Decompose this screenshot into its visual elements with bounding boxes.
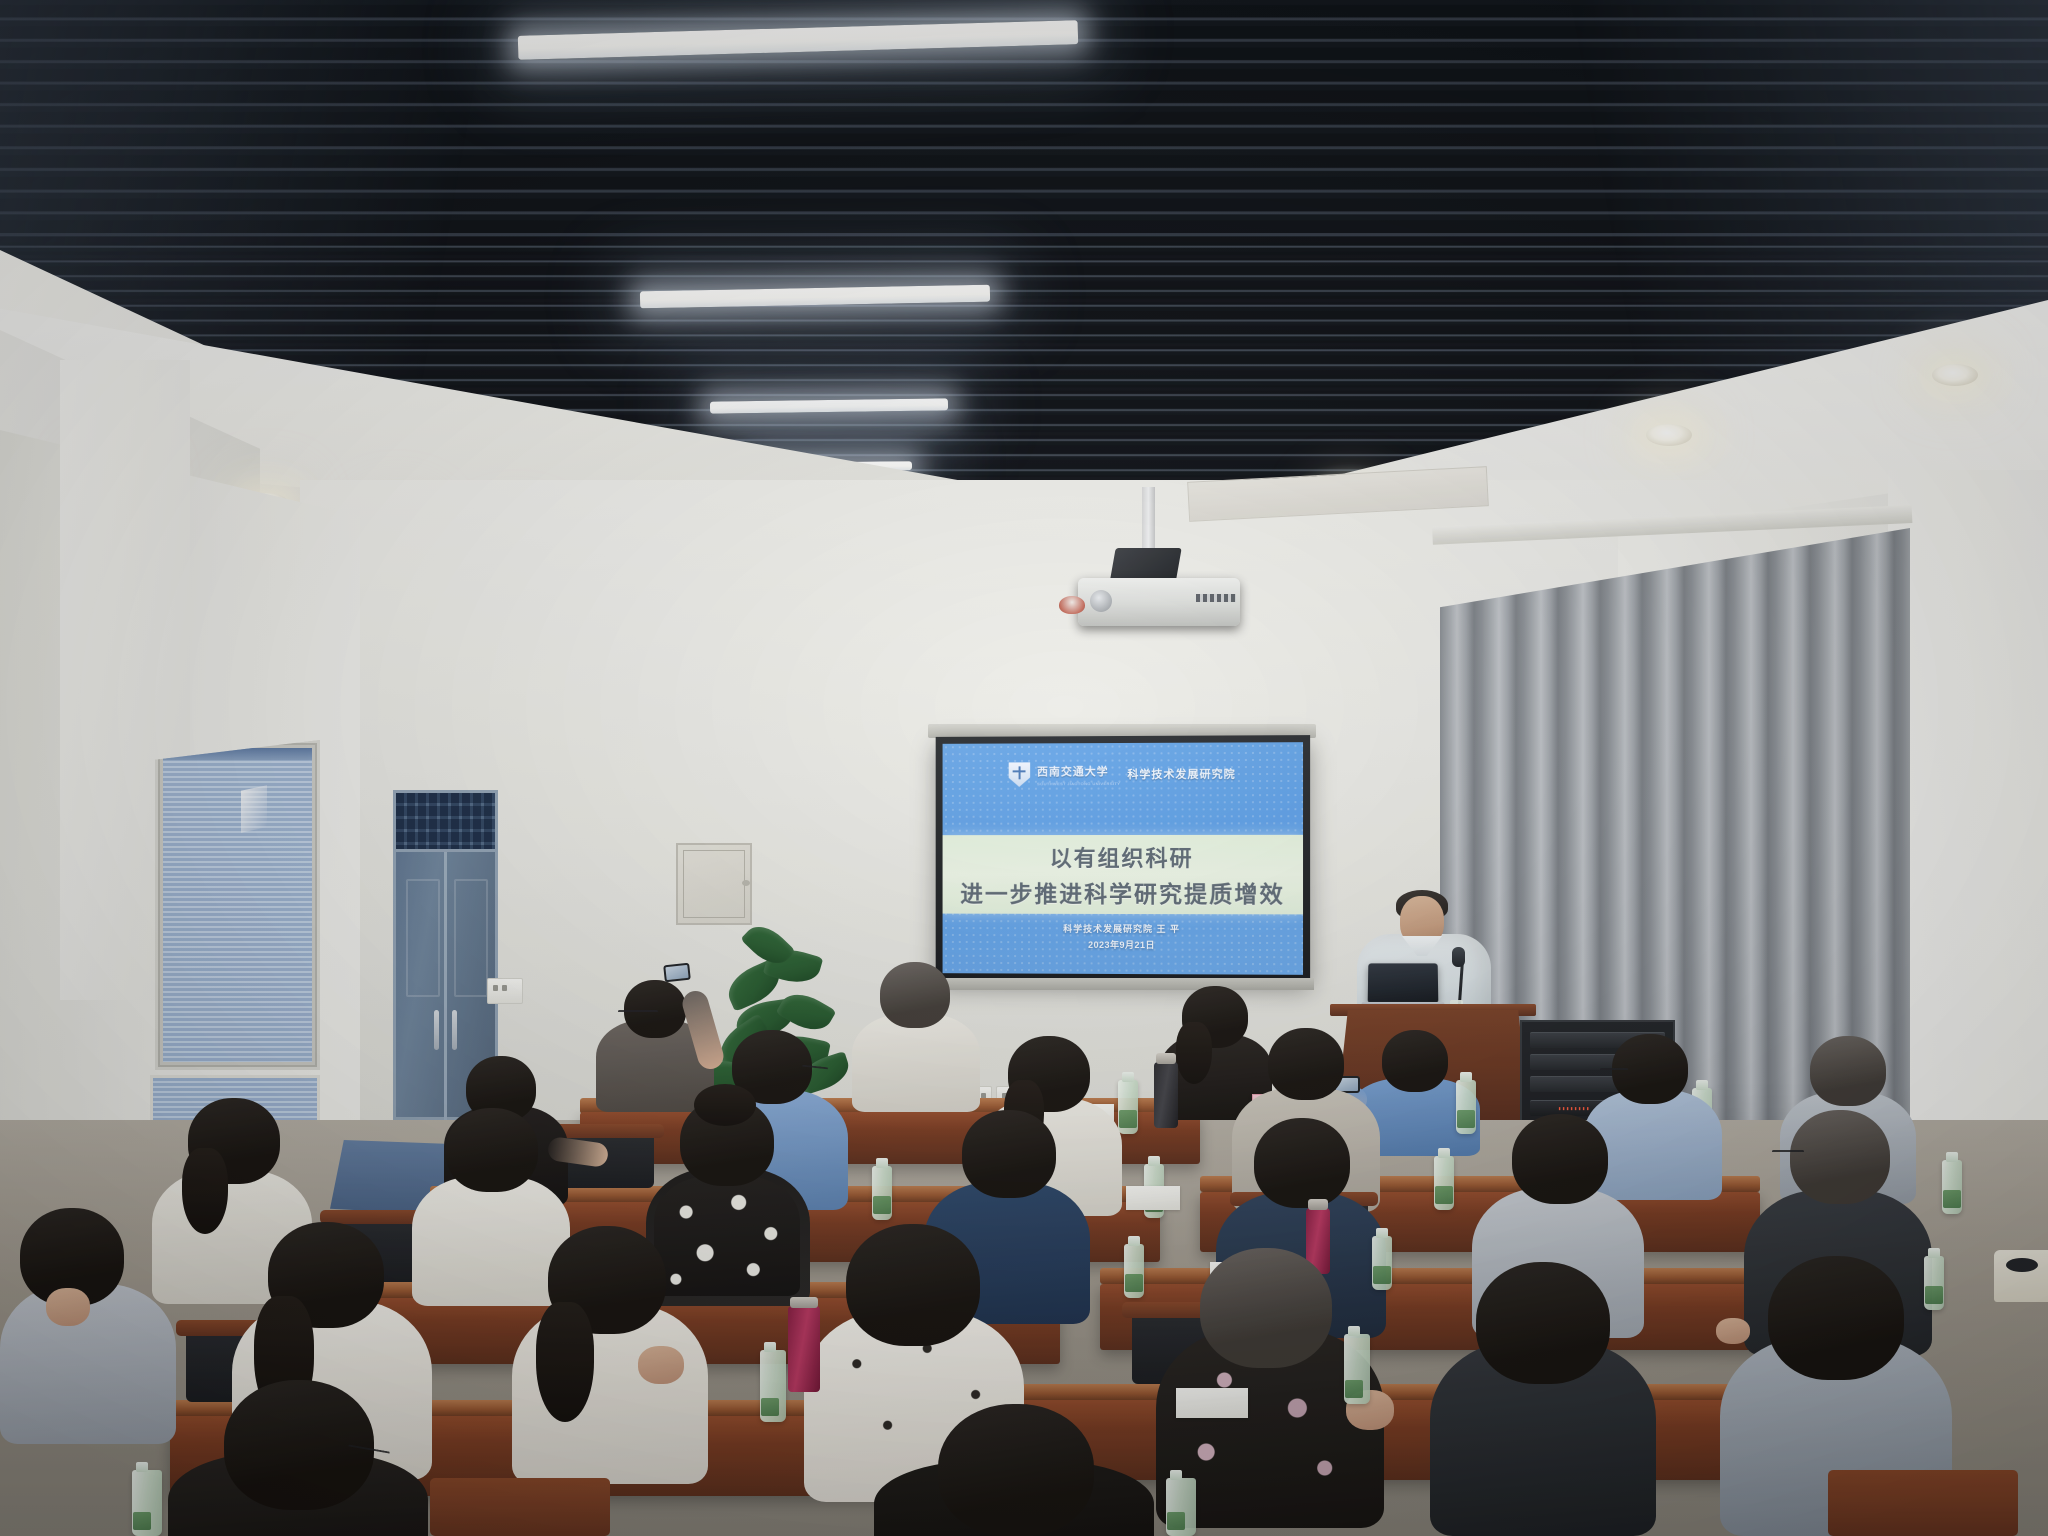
water-bottle xyxy=(1118,1080,1138,1134)
person-hand xyxy=(1716,1318,1750,1344)
chair-frame-front xyxy=(1828,1470,2018,1536)
door-leaf-split xyxy=(444,852,447,1120)
person-head xyxy=(1476,1262,1610,1384)
person-head xyxy=(1254,1118,1350,1208)
meeting-room-photo: 西南交通大学 SOUTHWEST JIAOTONG UNIVERSITY 科学技… xyxy=(0,0,2048,1536)
desk-row4r xyxy=(1020,1400,1820,1480)
downlight-7 xyxy=(1932,364,1978,386)
smartphone-icon[interactable] xyxy=(663,963,691,983)
person-head xyxy=(1200,1248,1332,1368)
water-bottle xyxy=(1434,1156,1454,1210)
slide-title-line-2: 进一步推进科学研究提质增效 xyxy=(960,875,1285,909)
person-head xyxy=(846,1224,980,1346)
person-head xyxy=(446,1108,538,1192)
person-body xyxy=(852,1014,980,1112)
slide-canvas: 西南交通大学 SOUTHWEST JIAOTONG UNIVERSITY 科学技… xyxy=(943,742,1303,975)
slide-university-name-en: SOUTHWEST JIAOTONG UNIVERSITY xyxy=(1037,781,1120,786)
desk-row4r-top xyxy=(1020,1384,1820,1400)
presenter-laptop[interactable] xyxy=(1368,963,1439,1003)
hair-strand xyxy=(182,1148,228,1234)
slide-university-name: 西南交通大学 xyxy=(1037,766,1109,778)
person-head xyxy=(880,962,950,1028)
projector-ports xyxy=(1196,594,1236,602)
person-head xyxy=(1810,1036,1886,1106)
person-head xyxy=(624,980,686,1038)
water-bottle xyxy=(132,1470,162,1536)
gooseneck-microphone-icon xyxy=(1452,947,1465,967)
water-bottle xyxy=(1124,1244,1144,1298)
eyeglasses-icon xyxy=(618,1010,658,1013)
person-hand xyxy=(638,1346,684,1384)
person-head xyxy=(1768,1256,1904,1380)
water-bottle xyxy=(1166,1478,1196,1536)
slide-footer: 科学技术发展研究院 王 平 2023年9月21日 xyxy=(943,921,1303,951)
light-switch-panel[interactable] xyxy=(487,978,523,1004)
slide-title-group: 以有组织科研 进一步推进科学研究提质增效 xyxy=(943,838,1303,912)
vacuum-thermos xyxy=(788,1306,820,1392)
smoke-detector-icon xyxy=(1059,596,1085,614)
slide-institute-name: 科学技术发展研究院 xyxy=(1127,766,1235,782)
person-head xyxy=(1790,1110,1890,1204)
venetian-blinds-icon[interactable] xyxy=(163,748,312,1062)
person-head xyxy=(1382,1030,1448,1092)
chair-frame-front xyxy=(430,1478,610,1536)
slide-university-name-block: 西南交通大学 SOUTHWEST JIAOTONG UNIVERSITY xyxy=(1037,762,1120,786)
hair-strand xyxy=(1176,1022,1212,1084)
person-patterned-top xyxy=(654,1176,800,1296)
slide-presenter: 科学技术发展研究院 王 平 xyxy=(943,921,1303,935)
rack-display-text: ▮▮▮▮▮▮▮▮ xyxy=(1558,1106,1590,1112)
water-bottle xyxy=(1344,1334,1370,1404)
eyeglasses-icon xyxy=(1772,1150,1804,1153)
door-handle-left[interactable] xyxy=(434,1010,439,1050)
tote-bag xyxy=(1994,1250,2048,1302)
door-panel-right xyxy=(454,879,488,997)
water-bottle xyxy=(1456,1080,1476,1134)
vacuum-thermos xyxy=(1154,1062,1178,1128)
door-transom-grille xyxy=(393,790,498,852)
person-head xyxy=(938,1404,1094,1536)
projection-screen: 西南交通大学 SOUTHWEST JIAOTONG UNIVERSITY 科学技… xyxy=(936,735,1310,982)
hair-bun xyxy=(694,1084,756,1126)
desk-paper xyxy=(1126,1186,1180,1210)
window-glare xyxy=(241,786,267,834)
right-wall-return xyxy=(1888,470,2048,1170)
person-hand xyxy=(46,1288,90,1326)
door-panel-left xyxy=(406,879,440,997)
eyeglasses-icon xyxy=(1600,1068,1628,1071)
left-window xyxy=(155,740,320,1070)
wall-access-panel xyxy=(676,843,752,925)
desk-paper xyxy=(1176,1388,1248,1418)
water-bottle xyxy=(1372,1236,1392,1290)
water-bottle xyxy=(760,1350,786,1422)
projector-lens-icon xyxy=(1090,590,1112,612)
slide-title-line-1: 以有组织科研 xyxy=(1050,841,1194,873)
university-crest-icon xyxy=(1008,762,1030,787)
slide-date: 2023年9月21日 xyxy=(943,937,1303,951)
person-body xyxy=(412,1176,570,1306)
water-bottle xyxy=(1924,1256,1944,1310)
downlight-6 xyxy=(1646,424,1692,446)
person-head xyxy=(1512,1114,1608,1204)
person-head xyxy=(1268,1028,1344,1100)
screen-bottom-rail xyxy=(930,978,1314,990)
ponytail xyxy=(536,1302,594,1422)
person-head xyxy=(962,1110,1056,1198)
access-panel-knob[interactable] xyxy=(742,880,750,886)
door-handle-right[interactable] xyxy=(452,1010,457,1050)
slide-header: 西南交通大学 SOUTHWEST JIAOTONG UNIVERSITY 科学技… xyxy=(943,742,1303,806)
water-bottle xyxy=(872,1166,892,1220)
water-bottle xyxy=(1942,1160,1962,1214)
